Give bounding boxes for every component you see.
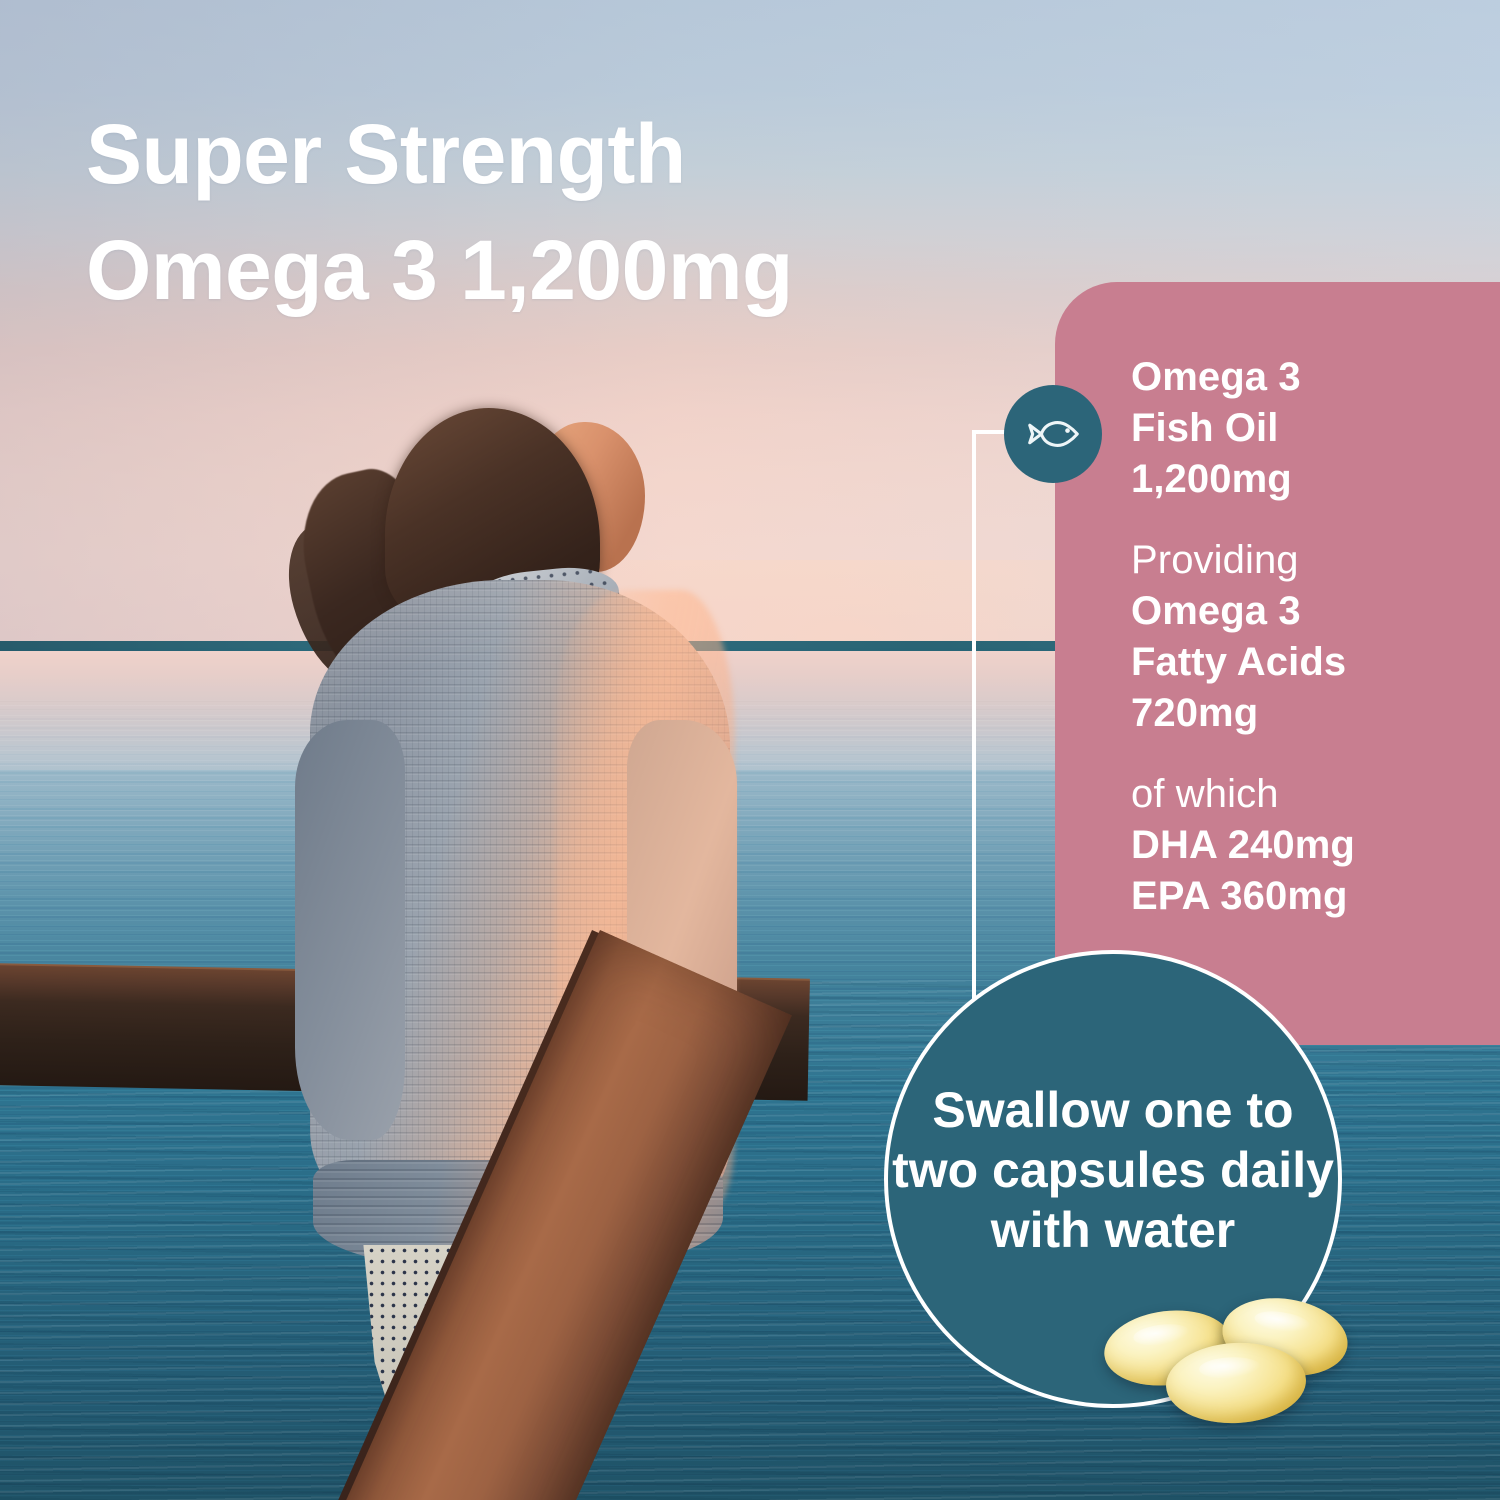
ingredient-line: Omega 3 [1131,352,1461,403]
fish-icon [1022,403,1084,465]
ingredient-block: Omega 3 Fish Oil 1,200mg [1131,352,1461,505]
product-marketing-image: Super Strength Omega 3 1,200mg Omega 3 F… [0,0,1500,1500]
ingredient-line: Providing [1131,535,1461,586]
connector-line [972,430,1006,1003]
dosage-text: Swallow one to two capsules daily with w… [888,1080,1338,1278]
capsule-highlight [1253,1308,1311,1336]
left-arm [295,720,405,1140]
ingredient-line: of which [1131,769,1461,820]
capsule-highlight [1132,1322,1190,1348]
page-title: Super Strength Omega 3 1,200mg [86,96,1086,328]
capsule-highlight [1198,1356,1261,1380]
capsule-group [1100,1295,1380,1435]
ingredient-line: Fatty Acids [1131,637,1461,688]
headline-line-1: Super Strength [86,107,686,201]
ingredient-line: DHA 240mg [1131,820,1461,871]
ingredient-text: Omega 3 Fish Oil 1,200mg Providing Omega… [1131,352,1461,922]
headline-line-2: Omega 3 1,200mg [86,212,1086,328]
ingredient-line: 1,200mg [1131,454,1461,505]
ingredient-line: EPA 360mg [1131,871,1461,922]
ingredient-block: Providing Omega 3 Fatty Acids 720mg [1131,535,1461,739]
ingredient-line: Omega 3 [1131,586,1461,637]
ingredient-block: of which DHA 240mg EPA 360mg [1131,769,1461,922]
ingredient-line: 720mg [1131,688,1461,739]
fish-badge [1004,385,1102,483]
ingredient-line: Fish Oil [1131,403,1461,454]
